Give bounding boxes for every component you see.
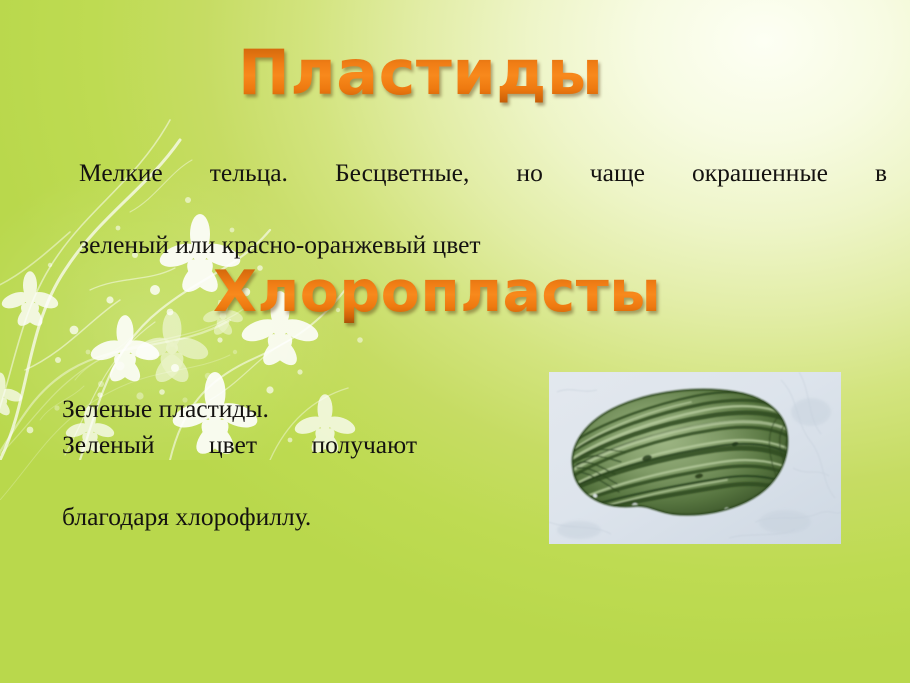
page-title-chloroplasts: Хлоропласты [213,259,661,325]
paragraph-chloroplasts-line-2: Зеленый цвет получают [62,427,417,499]
presentation-slide: Пластиды Мелкие тельца. Бесцветные, но ч… [0,0,910,683]
paragraph-plastids-line-1: Мелкие тельца. Бесцветные, но чаще окраш… [79,155,887,227]
chloroplast-micrograph-image [549,372,841,544]
paragraph-plastids-line-2: зеленый или красно-оранжевый цвет [79,227,887,263]
paragraph-chloroplasts-line-3: благодаря хлорофиллу. [62,499,417,535]
paragraph-chloroplasts: Зеленые пластиды. Зеленый цвет получают … [62,391,417,535]
paragraph-plastids: Мелкие тельца. Бесцветные, но чаще окраш… [79,155,887,263]
paragraph-chloroplasts-line-1: Зеленые пластиды. [62,391,417,427]
page-title-plastids: Пластиды [238,36,603,109]
